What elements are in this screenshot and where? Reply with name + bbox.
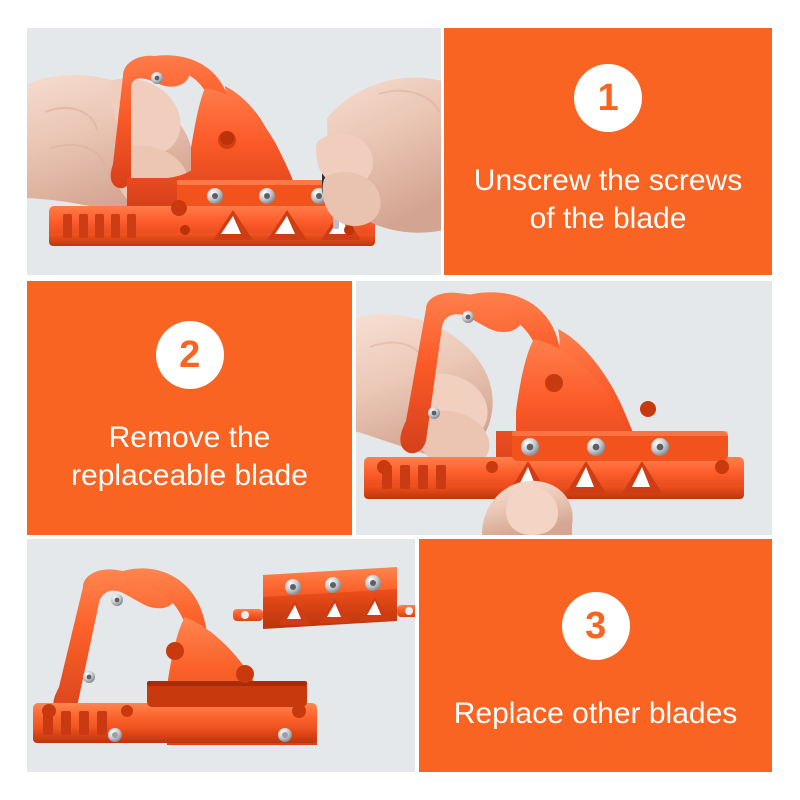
step-1-caption: Unscrew the screws of the blade [460,162,756,238]
step-3-badge: 3 [562,592,630,660]
step-2-text-panel: 2 Remove the replaceable blade [27,281,352,535]
planer-unscrew-scene [27,28,441,275]
step-1-number: 1 [598,79,619,117]
planer-remove-blade-scene [356,281,772,535]
step-3-photo [27,539,415,772]
step-2-badge: 2 [156,321,224,389]
instruction-sheet: 1 Unscrew the screws of the blade 2 Remo… [0,0,800,800]
step-3-caption: Replace other blades [440,695,752,733]
step-3-number: 3 [585,607,606,645]
step-2-photo [356,281,772,535]
planer-and-spare-blade-scene [27,539,415,772]
step-1-badge: 1 [574,64,642,132]
step-1-photo [27,28,441,275]
step-2-number: 2 [179,336,200,374]
step-2-caption: Remove the replaceable blade [57,419,322,495]
step-1-text-panel: 1 Unscrew the screws of the blade [444,28,772,275]
step-3-text-panel: 3 Replace other blades [419,539,772,772]
